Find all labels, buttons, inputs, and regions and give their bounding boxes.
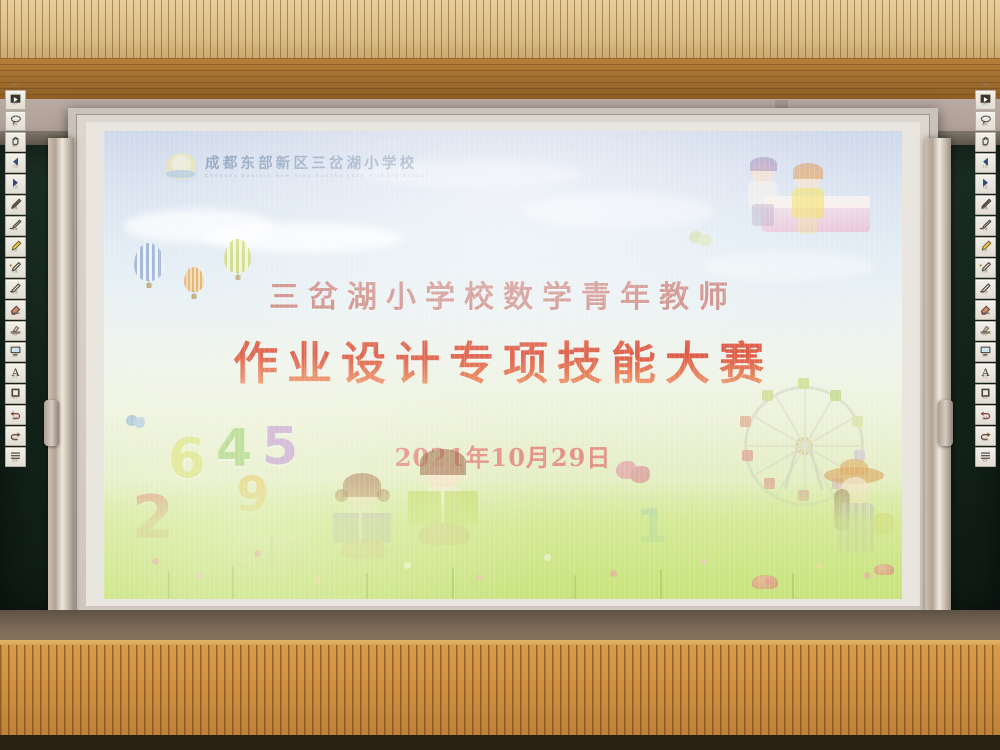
pen-thin-right[interactable]: 硬笔 (975, 195, 996, 215)
more-tools-right[interactable]: 更多 (975, 447, 996, 467)
tool-label: 选择 (12, 103, 17, 106)
tool-label: 橡皮 (12, 313, 17, 316)
tool-label: 选择 (982, 103, 987, 106)
board-handle-right[interactable] (938, 400, 953, 446)
child-hair (793, 163, 823, 179)
flower (404, 562, 411, 569)
tool-label: 纹理 (982, 292, 987, 295)
school-logo: 成都东部新区三岔湖小学校 Chengdu Eastern New Area Sa… (164, 153, 430, 183)
redo-action-right[interactable]: 恢复 (975, 426, 996, 446)
tool-label: 荧光 (982, 250, 987, 253)
pen-marker-right[interactable]: 荧光 (975, 237, 996, 257)
pen-brush-left[interactable]: 毛笔 (5, 216, 26, 236)
more-tools-left[interactable]: 更多 (5, 447, 26, 467)
tool-label: 毛笔 (982, 229, 987, 232)
school-name-english: Chengdu Eastern New Area Sancha Lake Pri… (205, 173, 430, 179)
pen-texture-right[interactable]: 纹理 (975, 279, 996, 299)
tool-label: 硬笔 (12, 208, 17, 211)
tool-label: 智能 (12, 271, 17, 274)
pen-thin-left[interactable]: 硬笔 (5, 195, 26, 215)
tool-label: 漫游 (982, 145, 987, 148)
blue-butterfly (126, 415, 146, 431)
board-track-left (48, 138, 74, 626)
lasso-tool-right[interactable]: 套索 (975, 111, 996, 131)
undo-action-right[interactable]: 撤销 (975, 405, 996, 425)
tool-label: 图形 (12, 397, 17, 400)
tool-label: 图形 (982, 397, 987, 400)
tool-label: 更多 (12, 460, 17, 463)
balloon-yellow-green (224, 239, 251, 273)
flower (610, 570, 617, 577)
toolbar-title: 工具栏 (980, 84, 991, 88)
grass-blade (232, 565, 234, 599)
floor-shadow (0, 735, 1000, 750)
ceiling-slats (0, 0, 1000, 60)
pen-smart-right[interactable]: 智能 (975, 258, 996, 278)
grass-blade (452, 567, 454, 599)
select-tool-right[interactable]: 选择 (975, 90, 996, 110)
grass-blade (792, 573, 794, 599)
next-page-left[interactable]: 下页 (5, 174, 26, 194)
tool-label: 清屏 (982, 334, 987, 337)
roam-tool-left[interactable]: 漫游 (5, 132, 26, 152)
board-track-right (925, 138, 951, 626)
eraser-tool-left[interactable]: 橡皮 (5, 300, 26, 320)
flower (864, 572, 871, 579)
flower (476, 574, 483, 581)
tool-label: 文字 (982, 376, 987, 379)
figure-two-children-on-book (724, 146, 874, 241)
tool-label: 上页 (12, 166, 17, 169)
mushroom (752, 575, 778, 589)
grass-blade (574, 575, 576, 599)
lasso-tool-left[interactable]: 套索 (5, 111, 26, 131)
tool-label: 截屏 (982, 355, 987, 358)
screenshot-stage: 成都东部新区三岔湖小学校 Chengdu Eastern New Area Sa… (0, 0, 1000, 750)
pen-texture-left[interactable]: 纹理 (5, 279, 26, 299)
tool-label: 上页 (982, 166, 987, 169)
tool-label: 硬笔 (982, 208, 987, 211)
tool-label: 漫游 (12, 145, 17, 148)
text-tool-right[interactable]: A文字 (975, 363, 996, 383)
tool-label: 纹理 (12, 292, 17, 295)
child-legs (797, 214, 817, 234)
text-tool-left[interactable]: A文字 (5, 363, 26, 383)
tool-label: 撤销 (982, 418, 987, 421)
tool-label: 套索 (12, 124, 17, 127)
tool-label: 毛笔 (12, 229, 17, 232)
tool-label: 截屏 (12, 355, 17, 358)
shape-tool-left[interactable]: 图形 (5, 384, 26, 404)
flower (700, 558, 707, 565)
clear-all-left[interactable]: 清屏 (5, 321, 26, 341)
prev-page-right[interactable]: 上页 (975, 153, 996, 173)
tool-label: 下页 (982, 187, 987, 190)
grass-blade (660, 569, 662, 599)
cloud (524, 193, 714, 229)
board-handle-left[interactable] (44, 400, 59, 446)
slide-title-line2: 作业设计专项技能大赛 (104, 327, 902, 392)
tool-label: 更多 (982, 460, 987, 463)
screen-capture-right[interactable]: 截屏 (975, 342, 996, 362)
screen-capture-left[interactable]: 截屏 (5, 342, 26, 362)
roam-tool-right[interactable]: 漫游 (975, 132, 996, 152)
tool-label: 撤销 (12, 418, 17, 421)
slide-title-line1: 三岔湖小学校数学青年教师 (104, 272, 902, 316)
flower (544, 554, 551, 561)
pen-brush-right[interactable]: 毛笔 (975, 216, 996, 236)
clear-all-right[interactable]: 清屏 (975, 321, 996, 341)
pen-marker-left[interactable]: 荧光 (5, 237, 26, 257)
tool-label: 套索 (982, 124, 987, 127)
projection-screen[interactable]: 成都东部新区三岔湖小学校 Chengdu Eastern New Area Sa… (86, 122, 920, 606)
toolbar-right[interactable]: 工具栏选择套索漫游上页下页硬笔毛笔荧光智能纹理橡皮清屏截屏A文字图形撤销恢复更多 (973, 84, 997, 467)
tool-label: 恢复 (12, 439, 17, 442)
select-tool-left[interactable]: 选择 (5, 90, 26, 110)
undo-action-left[interactable]: 撤销 (5, 405, 26, 425)
tool-label: 清屏 (12, 334, 17, 337)
grass-blade (168, 571, 170, 599)
tool-label: 荧光 (12, 250, 17, 253)
flower (314, 576, 321, 583)
next-page-right[interactable]: 下页 (975, 174, 996, 194)
boy-hair (420, 449, 466, 475)
toolbar-left[interactable]: 工具栏选择套索漫游上页下页硬笔毛笔荧光智能纹理橡皮清屏截屏A文字图形撤销恢复更多 (3, 84, 27, 467)
eraser-tool-right[interactable]: 橡皮 (975, 300, 996, 320)
tool-label: 下页 (12, 187, 17, 190)
flower (196, 572, 203, 579)
child-legs (752, 204, 774, 226)
tool-label: 智能 (982, 271, 987, 274)
mushroom (874, 564, 894, 575)
redo-action-left[interactable]: 恢复 (5, 426, 26, 446)
grass-field (104, 479, 902, 599)
shape-tool-right[interactable]: 图形 (975, 384, 996, 404)
tool-label: 文字 (12, 376, 17, 379)
green-butterfly (689, 231, 711, 249)
flower (816, 562, 823, 569)
prev-page-left[interactable]: 上页 (5, 153, 26, 173)
straw-hat-crown (840, 459, 868, 475)
toolbar-title: 工具栏 (10, 84, 21, 88)
flower (254, 550, 261, 557)
school-name-chinese: 成都东部新区三岔湖小学校 (205, 157, 430, 172)
sunrise-logo-icon (164, 153, 198, 183)
pen-smart-left[interactable]: 智能 (5, 258, 26, 278)
tool-label: 恢复 (982, 439, 987, 442)
presentation-slide: 成都东部新区三岔湖小学校 Chengdu Eastern New Area Sa… (104, 131, 902, 599)
grass-blade (366, 573, 368, 599)
tool-label: 橡皮 (982, 313, 987, 316)
child-hair (750, 157, 777, 171)
flower (152, 558, 159, 565)
ceiling-beam (0, 58, 1000, 100)
